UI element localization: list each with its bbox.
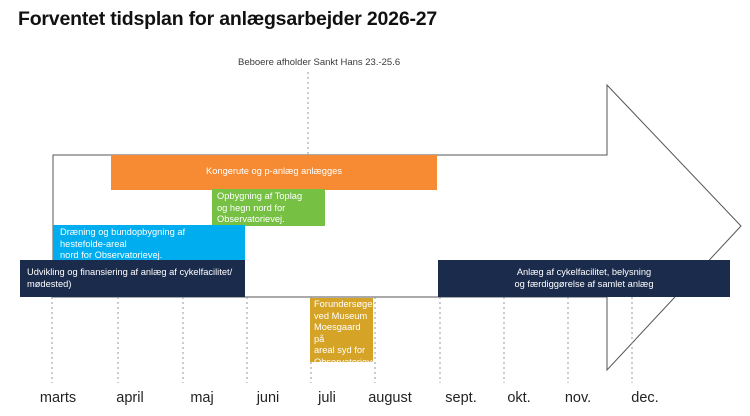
task-label: Dræning og bundopbygning af hestefolde-a…: [60, 227, 241, 261]
month-axis: marts april maj juni juli august sept. o…: [0, 390, 750, 416]
month-label-marts: marts: [40, 390, 76, 406]
month-label-sept: sept.: [445, 390, 476, 406]
month-label-april: april: [116, 390, 143, 406]
task-label: Kongerute og p-anlæg anlægges: [119, 166, 429, 178]
task-bar-udvikling[interactable]: Udvikling og finansiering af anlæg af cy…: [20, 260, 245, 297]
month-label-maj: maj: [190, 390, 213, 406]
task-bar-kongerute[interactable]: Kongerute og p-anlæg anlægges: [111, 155, 437, 190]
month-label-august: august: [368, 390, 412, 406]
task-label: Opbygning af Toplag og hegn nord for Obs…: [217, 191, 321, 226]
task-label: Udvikling og finansiering af anlæg af cy…: [27, 267, 241, 290]
task-bar-anlaeg-cykelfacilitet[interactable]: Anlæg af cykelfacilitet, belysning og fæ…: [438, 260, 730, 297]
month-label-juni: juni: [257, 390, 280, 406]
chart-canvas: [0, 0, 750, 416]
timeline-chart: Forventet tidsplan for anlægsarbejder 20…: [0, 0, 750, 416]
month-label-dec: dec.: [631, 390, 658, 406]
month-label-okt: okt.: [507, 390, 530, 406]
task-bar-toplag[interactable]: Opbygning af Toplag og hegn nord for Obs…: [212, 189, 325, 226]
task-bar-draening[interactable]: Dræning og bundopbygning af hestefolde-a…: [53, 225, 245, 261]
month-label-nov: nov.: [565, 390, 591, 406]
month-label-juli: juli: [318, 390, 336, 406]
task-label: Anlæg af cykelfacilitet, belysning og fæ…: [444, 267, 724, 290]
task-label: Forundersøgelse ved Museum Moesgaard på …: [314, 299, 373, 362]
task-bar-forundersoegelse[interactable]: Forundersøgelse ved Museum Moesgaard på …: [310, 298, 373, 362]
